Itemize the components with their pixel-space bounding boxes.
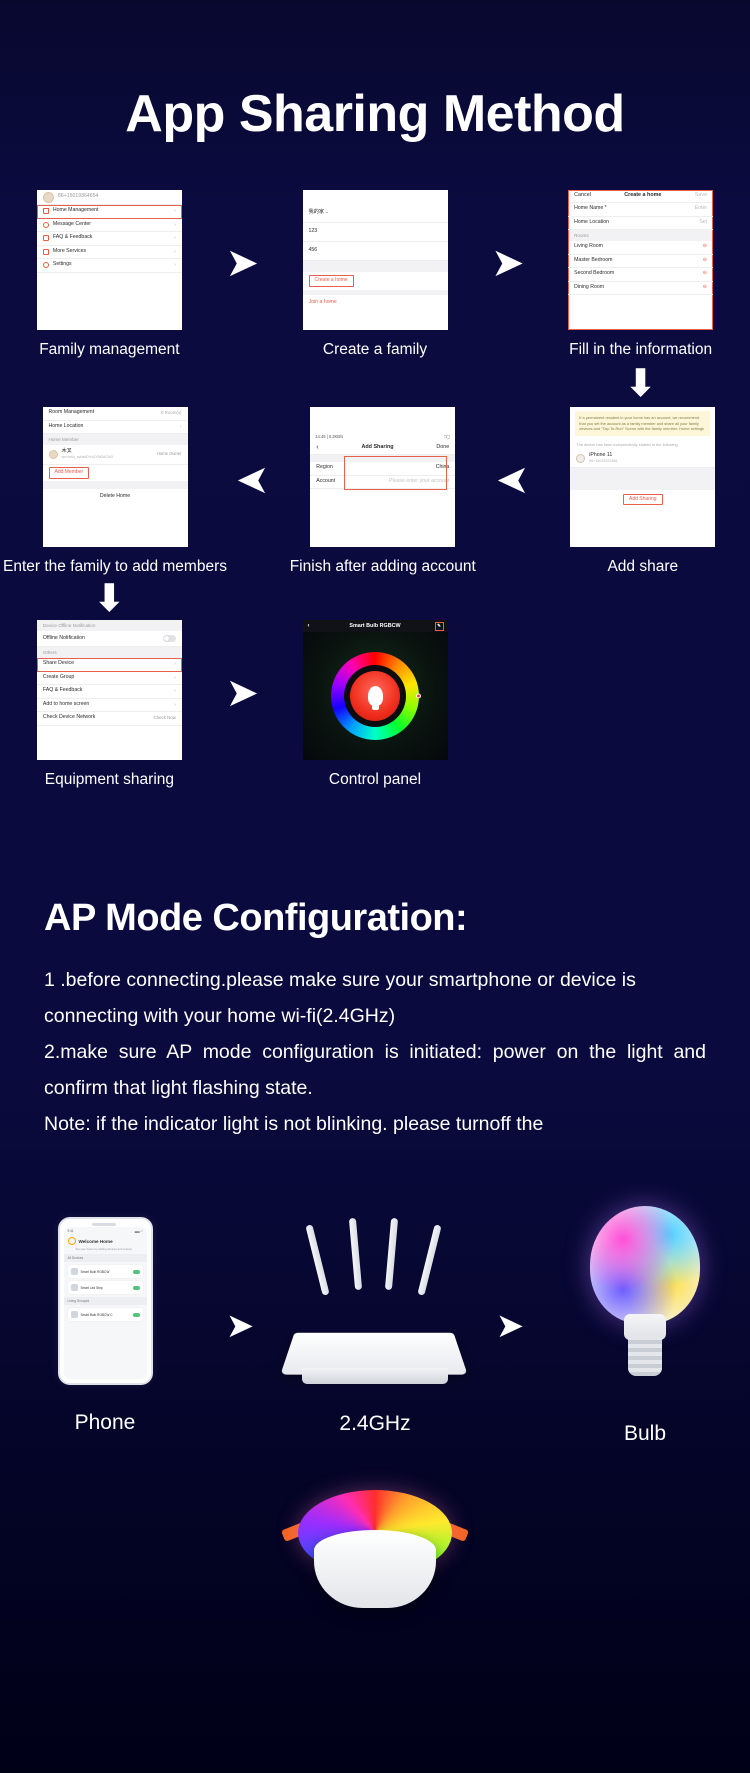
color-wheel-handle[interactable] xyxy=(416,694,421,699)
downlight-illustration xyxy=(260,1480,490,1620)
chevron-right-icon: › xyxy=(174,208,176,214)
ap-mode-title: AP Mode Configuration: xyxy=(44,897,706,940)
antenna xyxy=(417,1225,441,1297)
join-home-row[interactable]: Join a home xyxy=(303,295,448,311)
antenna xyxy=(349,1218,362,1290)
ap-line-1: 1 .before connecting.please make sure yo… xyxy=(44,962,706,1034)
device-card[interactable]: Smart Bulb RGBCW xyxy=(68,1265,143,1278)
add-sharing-button[interactable]: Add Sharing xyxy=(623,494,663,506)
device-caption: 2.4GHz xyxy=(339,1412,410,1436)
join-home-button[interactable]: Join a home xyxy=(309,300,337,306)
remove-icon[interactable]: ⊖ xyxy=(703,244,707,250)
color-wheel-area[interactable] xyxy=(303,632,448,760)
step-caption: Create a family xyxy=(323,341,427,359)
phone-mockup[interactable]: 9:41 ▃▃ □ Welcome Home Set your home by … xyxy=(58,1217,153,1385)
member-row[interactable]: 木叉 wx+rollu_sv0a60%41YM2ACM3 Home Owner xyxy=(43,445,188,465)
device-caption: Bulb xyxy=(624,1422,666,1446)
status-bar: 14:45 | 0.2KB/s □▢ xyxy=(310,433,455,442)
chevron-right-icon: › xyxy=(180,424,182,430)
row-label: Share Device xyxy=(43,661,74,667)
chevron-right-icon: › xyxy=(174,661,176,667)
chevron-right-icon: › xyxy=(174,235,176,241)
ap-line-2: 2.make sure AP mode configuration is ini… xyxy=(44,1034,706,1106)
divider xyxy=(303,261,448,272)
form-title: Create a home xyxy=(624,193,661,199)
arrow-left-icon: ➤ xyxy=(236,460,270,500)
edit-icon[interactable]: ✎ xyxy=(435,622,444,631)
phone-screen[interactable]: 9:41 ▃▃ □ Welcome Home Set your home by … xyxy=(64,1227,147,1379)
arrow-right-icon: ➤ xyxy=(491,243,525,283)
arrow-right-1: ➤ xyxy=(213,190,272,335)
back-button[interactable]: ‹ xyxy=(316,444,318,452)
home-item[interactable]: 我的家 .. xyxy=(303,204,448,223)
back-button[interactable]: ‹ xyxy=(308,623,310,629)
device-name: Smart Led Strip xyxy=(81,1286,103,1290)
arrow-right-icon: ➤ xyxy=(225,243,259,283)
notice-banner: If a permanent resident in your home has… xyxy=(575,411,710,436)
page-title: App Sharing Method xyxy=(0,0,750,140)
home-item[interactable]: 123 xyxy=(303,223,448,242)
home-location-row[interactable]: Home Location › xyxy=(43,421,188,435)
screenshot-fill-information[interactable]: Cancel Create a home Save Home Name * En… xyxy=(568,190,713,330)
arrow-down-icon: ⬇ xyxy=(625,364,657,402)
chevron-right-icon: › xyxy=(174,262,176,268)
remove-icon[interactable]: ⊖ xyxy=(703,285,707,291)
screenshot-create-family[interactable]: 我的家 .. 123 456 Create a home Join a home xyxy=(303,190,448,330)
device-toggle[interactable] xyxy=(133,1286,140,1290)
menu-item-message-center[interactable]: Message Center › xyxy=(37,219,182,233)
device-thumbnail xyxy=(71,1311,78,1318)
check-now-value[interactable]: Check Now xyxy=(153,716,175,721)
home-icon xyxy=(43,208,49,214)
save-button[interactable]: Save xyxy=(695,193,707,199)
menu-item-check-device-network[interactable]: Check Device Network Check Now xyxy=(37,712,182,726)
antenna xyxy=(305,1225,329,1297)
device-thumbnail xyxy=(71,1268,78,1275)
ap-line-3: Note: if the indicator light is not blin… xyxy=(44,1106,706,1142)
home-item[interactable]: 456 xyxy=(303,242,448,261)
step-caption: Equipment sharing xyxy=(45,771,174,789)
flow-down-1: ⬇ xyxy=(6,363,744,403)
screenshot-family-menu[interactable]: 86+15019364654 Home Management › Message… xyxy=(37,190,182,330)
region-label: Region xyxy=(316,465,332,471)
device-phone: 9:41 ▃▃ □ Welcome Home Set your home by … xyxy=(0,1217,210,1435)
account-label: Account xyxy=(316,479,335,485)
flow-row-2: Room Management 0 Room(s) Home Location … xyxy=(6,407,744,576)
field-value: Enter xyxy=(695,206,707,212)
menu-item-share-device[interactable]: Share Device › xyxy=(37,658,182,672)
row-label: Home Location xyxy=(49,424,84,430)
arrow-right-4: ➤ xyxy=(210,1309,270,1343)
room-item[interactable]: Living Room ⊖ xyxy=(568,241,713,255)
device-bulb: Bulb xyxy=(540,1206,750,1446)
device-card[interactable]: Smart Bulb RGBCW C xyxy=(68,1308,143,1321)
message-icon xyxy=(43,222,49,228)
device-router: 2.4GHz xyxy=(270,1216,480,1436)
room-item[interactable]: Second Bedroom ⊖ xyxy=(568,268,713,282)
device-thumbnail xyxy=(71,1284,78,1291)
delete-home-button[interactable]: Delete Home xyxy=(100,494,130,500)
member-account: 86+15019322485 xyxy=(589,460,617,464)
faq-icon xyxy=(43,235,49,241)
add-member-row[interactable]: Add Member xyxy=(43,465,188,481)
step-family-management: 86+15019364654 Home Management › Message… xyxy=(6,190,213,359)
router-illustration xyxy=(280,1216,470,1386)
row-label: Room Management xyxy=(49,410,95,416)
screenshot-control-panel[interactable]: ‹ Smart Bulb RGBCW ✎ xyxy=(303,620,448,760)
menu-item-faq-feedback[interactable]: FAQ & Feedback › xyxy=(37,685,182,699)
sharing-header: ‹ Add Sharing Done xyxy=(310,442,455,455)
flow-row-3: Device Offline Notification Offline Noti… xyxy=(6,620,744,789)
menu-item-faq-feedback[interactable]: FAQ & Feedback › xyxy=(37,232,182,246)
spacer xyxy=(570,468,715,490)
row-label: Check Device Network xyxy=(43,715,95,721)
screenshot-room-management[interactable]: Room Management 0 Room(s) Home Location … xyxy=(43,407,188,547)
step-caption: Enter the family to add members xyxy=(3,558,227,576)
step-control-panel: ‹ Smart Bulb RGBCW ✎ Control panel xyxy=(272,620,479,789)
row-label: Offline Notification xyxy=(43,636,85,642)
room-count: 0 Room(s) xyxy=(161,411,182,416)
arrow-left-2: ➤ xyxy=(484,407,542,552)
bulb-glass xyxy=(590,1206,700,1324)
avatar xyxy=(43,192,54,203)
arrow-right-icon: ➤ xyxy=(496,1309,525,1343)
shared-member-row[interactable]: iPhone 11 86+15019322485 xyxy=(570,450,715,468)
arrow-left-icon: ➤ xyxy=(496,460,530,500)
delete-home-row[interactable]: Delete Home xyxy=(43,489,188,505)
spacer xyxy=(43,481,188,489)
bulb-illustration xyxy=(580,1206,710,1396)
sharing-title: Add Sharing xyxy=(361,445,393,451)
step-equipment-sharing: Device Offline Notification Offline Noti… xyxy=(6,620,213,789)
color-preview xyxy=(350,671,400,721)
home-member-header: Home Member xyxy=(43,434,188,445)
device-flow: 9:41 ▃▃ □ Welcome Home Set your home by … xyxy=(0,1206,750,1446)
step-caption: Fill in the information xyxy=(569,341,712,359)
menu-item-settings[interactable]: Settings › xyxy=(37,259,182,273)
sub-note: The device has been independently shared… xyxy=(570,440,715,450)
menu-label: Settings xyxy=(53,262,72,268)
step-finish-adding-account: 14:45 | 0.2KB/s □▢ ‹ Add Sharing Done Re… xyxy=(282,407,484,576)
offline-notification-row[interactable]: Offline Notification xyxy=(37,631,182,647)
welcome-title: Welcome Home xyxy=(79,1239,113,1244)
device-title: Smart Bulb RGBCW xyxy=(349,623,400,629)
section-all-devices: All Devices xyxy=(64,1254,147,1262)
arrow-left-1: ➤ xyxy=(224,407,282,552)
chevron-right-icon: › xyxy=(174,702,176,708)
account-row[interactable]: 86+15019364654 xyxy=(37,190,182,205)
row-label: Add to home screen xyxy=(43,702,89,708)
add-sharing-row[interactable]: Add Sharing xyxy=(570,490,715,508)
step-fill-information: Cancel Create a home Save Home Name * En… xyxy=(537,190,744,359)
phone-speaker xyxy=(94,1223,116,1226)
control-panel-header: ‹ Smart Bulb RGBCW ✎ xyxy=(303,620,448,632)
step-caption: Add share xyxy=(607,558,678,576)
chevron-right-icon: › xyxy=(174,249,176,255)
account-number: 86+15019364654 xyxy=(58,194,99,200)
offline-header: Device Offline Notification xyxy=(37,620,182,631)
remove-icon[interactable]: ⊖ xyxy=(703,271,707,277)
color-wheel[interactable] xyxy=(331,652,419,740)
field-label: Home Location xyxy=(574,220,609,226)
room-item[interactable]: Dining Room ⊖ xyxy=(568,282,713,296)
step-enter-family-add-members: Room Management 0 Room(s) Home Location … xyxy=(6,407,224,576)
offline-notification-toggle[interactable] xyxy=(163,635,176,642)
menu-label: FAQ & Feedback xyxy=(53,235,93,241)
ap-mode-section: AP Mode Configuration: 1 .before connect… xyxy=(0,897,750,1142)
flow-down-2: ⬇ xyxy=(6,578,744,618)
field-home-location[interactable]: Home Location Set xyxy=(568,217,713,231)
screenshot-add-sharing-form[interactable]: 14:45 | 0.2KB/s □▢ ‹ Add Sharing Done Re… xyxy=(310,407,455,547)
avatar xyxy=(49,450,58,459)
arrow-right-3: ➤ xyxy=(213,620,272,765)
room-item[interactable]: Master Bedroom ⊖ xyxy=(568,255,713,269)
flow-diagram: 86+15019364654 Home Management › Message… xyxy=(0,190,750,789)
device-card[interactable]: Smart Led Strip xyxy=(68,1281,143,1294)
cancel-button[interactable]: Cancel xyxy=(574,193,591,199)
bulb-icon xyxy=(368,686,383,706)
menu-label: Home Management xyxy=(53,208,99,214)
member-role: Home Owner xyxy=(157,452,182,457)
chevron-right-icon: › xyxy=(174,222,176,228)
step-caption: Control panel xyxy=(329,771,421,789)
field-label: Home Name * xyxy=(574,206,607,212)
menu-item-create-group[interactable]: Create Group › xyxy=(37,672,182,686)
settings-icon xyxy=(43,262,49,268)
status-icons: ▃▃ □ xyxy=(135,1229,143,1233)
arrow-right-icon: ➤ xyxy=(225,673,259,713)
device-toggle[interactable] xyxy=(133,1313,140,1317)
step-caption: Finish after adding account xyxy=(290,558,476,576)
device-name: Smart Bulb RGBCW C xyxy=(81,1313,113,1317)
arrow-right-2: ➤ xyxy=(478,190,537,335)
chevron-right-icon: › xyxy=(174,688,176,694)
arrow-right-icon: ➤ xyxy=(226,1309,255,1343)
downlight-body xyxy=(314,1530,436,1608)
welcome-subtitle: Set your home by adding devices and scen… xyxy=(64,1247,147,1254)
row-label: FAQ & Feedback xyxy=(43,688,83,694)
menu-item-add-to-home-screen[interactable]: Add to home screen › xyxy=(37,699,182,713)
welcome-row: Welcome Home xyxy=(64,1233,147,1247)
field-home-name[interactable]: Home Name * Enter xyxy=(568,203,713,217)
chevron-right-icon: › xyxy=(174,675,176,681)
more-icon xyxy=(43,249,49,255)
form-header: Cancel Create a home Save xyxy=(568,190,713,203)
screenshot-device-settings[interactable]: Device Offline Notification Offline Noti… xyxy=(37,620,182,760)
menu-label: Message Center xyxy=(53,222,91,228)
others-header: Others xyxy=(37,647,182,658)
flow-row-1: 86+15019364654 Home Management › Message… xyxy=(6,190,744,359)
ap-mode-body: 1 .before connecting.please make sure yo… xyxy=(44,962,706,1142)
step-create-family: 我的家 .. 123 456 Create a home Join a home… xyxy=(272,190,479,359)
device-name: Smart Bulb RGBCW xyxy=(81,1270,110,1274)
member-id: wx+rollu_sv0a60%41YM2ACM3 xyxy=(62,456,113,460)
create-home-row[interactable]: Create a home xyxy=(303,272,448,290)
status-time: 9:41 xyxy=(68,1229,74,1233)
step-add-share: If a permanent resident in your home has… xyxy=(542,407,744,576)
menu-item-home-management[interactable]: Home Management › xyxy=(37,205,182,219)
section-grouped: Living Grouped xyxy=(64,1297,147,1305)
weather-icon xyxy=(68,1237,76,1245)
device-toggle[interactable] xyxy=(133,1270,140,1274)
step-caption: Family management xyxy=(39,341,179,359)
device-caption: Phone xyxy=(75,1411,136,1435)
phone-camera xyxy=(92,1223,95,1226)
rooms-header: Rooms xyxy=(568,230,713,241)
field-value: Set xyxy=(699,220,707,226)
menu-label: More Services xyxy=(53,249,86,255)
bulb-base xyxy=(628,1336,662,1376)
menu-item-more-services[interactable]: More Services › xyxy=(37,246,182,260)
screenshot-add-share[interactable]: If a permanent resident in your home has… xyxy=(570,407,715,547)
status-icons: □▢ xyxy=(444,435,450,440)
highlight-box xyxy=(344,456,447,490)
avatar xyxy=(576,454,585,463)
remove-icon[interactable]: ⊖ xyxy=(703,258,707,264)
add-member-button[interactable]: Add Member xyxy=(49,467,90,479)
arrow-right-5: ➤ xyxy=(480,1309,540,1343)
antenna xyxy=(385,1218,398,1290)
done-button[interactable]: Done xyxy=(436,445,449,451)
room-management-row[interactable]: Room Management 0 Room(s) xyxy=(43,407,188,421)
row-label: Create Group xyxy=(43,675,74,681)
status-time: 14:45 | 0.2KB/s xyxy=(315,435,343,440)
arrow-down-icon: ⬇ xyxy=(93,579,125,617)
create-home-button[interactable]: Create a home xyxy=(309,275,354,287)
router-front xyxy=(302,1368,448,1384)
